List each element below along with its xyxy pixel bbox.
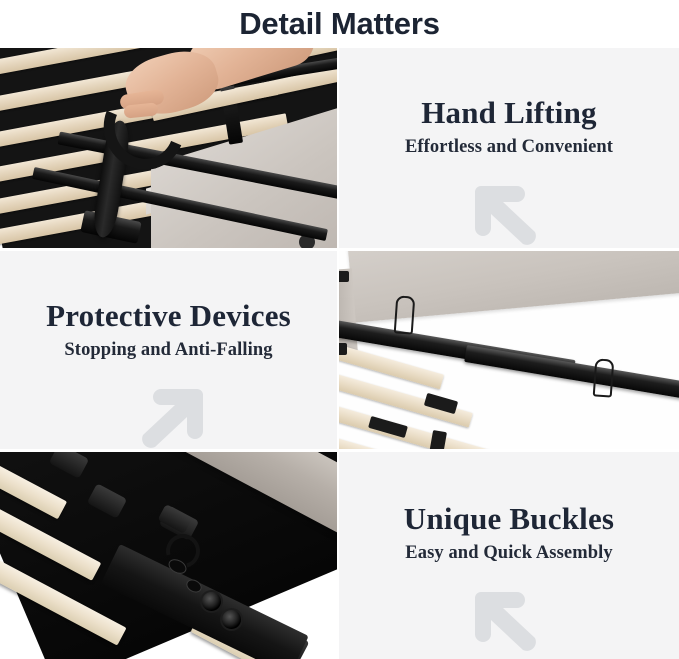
buckle-grommet <box>222 610 241 629</box>
feature-panel-unique-buckles: Unique Buckles Easy and Quick Assembly <box>339 452 679 659</box>
feature-heading: Hand Lifting <box>421 96 597 131</box>
photo-safety-hooks <box>339 251 679 452</box>
title-bar: Detail Matters <box>0 0 679 48</box>
frame-bracket <box>339 271 349 282</box>
feature-panel-protective-devices: Protective Devices Stopping and Anti-Fal… <box>0 251 339 452</box>
photo-hand-lifting-strap <box>0 48 339 251</box>
wire-stopper-hook <box>593 358 615 397</box>
feature-subheading: Stopping and Anti-Falling <box>64 339 272 361</box>
arrow-up-left-icon <box>467 174 551 246</box>
feature-panel-hand-lifting: Hand Lifting Effortless and Convenient <box>339 48 679 251</box>
arrow-up-right-icon <box>127 377 211 449</box>
feature-subheading: Easy and Quick Assembly <box>405 542 612 564</box>
arrow-container <box>339 174 679 246</box>
arrow-container <box>339 580 679 652</box>
infographic-page: Detail Matters <box>0 0 679 659</box>
page-title: Detail Matters <box>239 8 440 41</box>
wire-stopper-hook <box>394 295 416 334</box>
feature-subheading: Effortless and Convenient <box>405 136 613 158</box>
frame-bracket <box>339 343 347 355</box>
photo-buckle-hardware <box>0 452 339 659</box>
arrow-container <box>0 377 337 449</box>
feature-heading: Protective Devices <box>46 299 291 334</box>
buckle-grommet <box>202 592 221 611</box>
feature-heading: Unique Buckles <box>404 502 614 537</box>
feature-grid: Hand Lifting Effortless and Convenient P… <box>0 48 679 659</box>
arrow-up-left-icon <box>467 580 551 652</box>
